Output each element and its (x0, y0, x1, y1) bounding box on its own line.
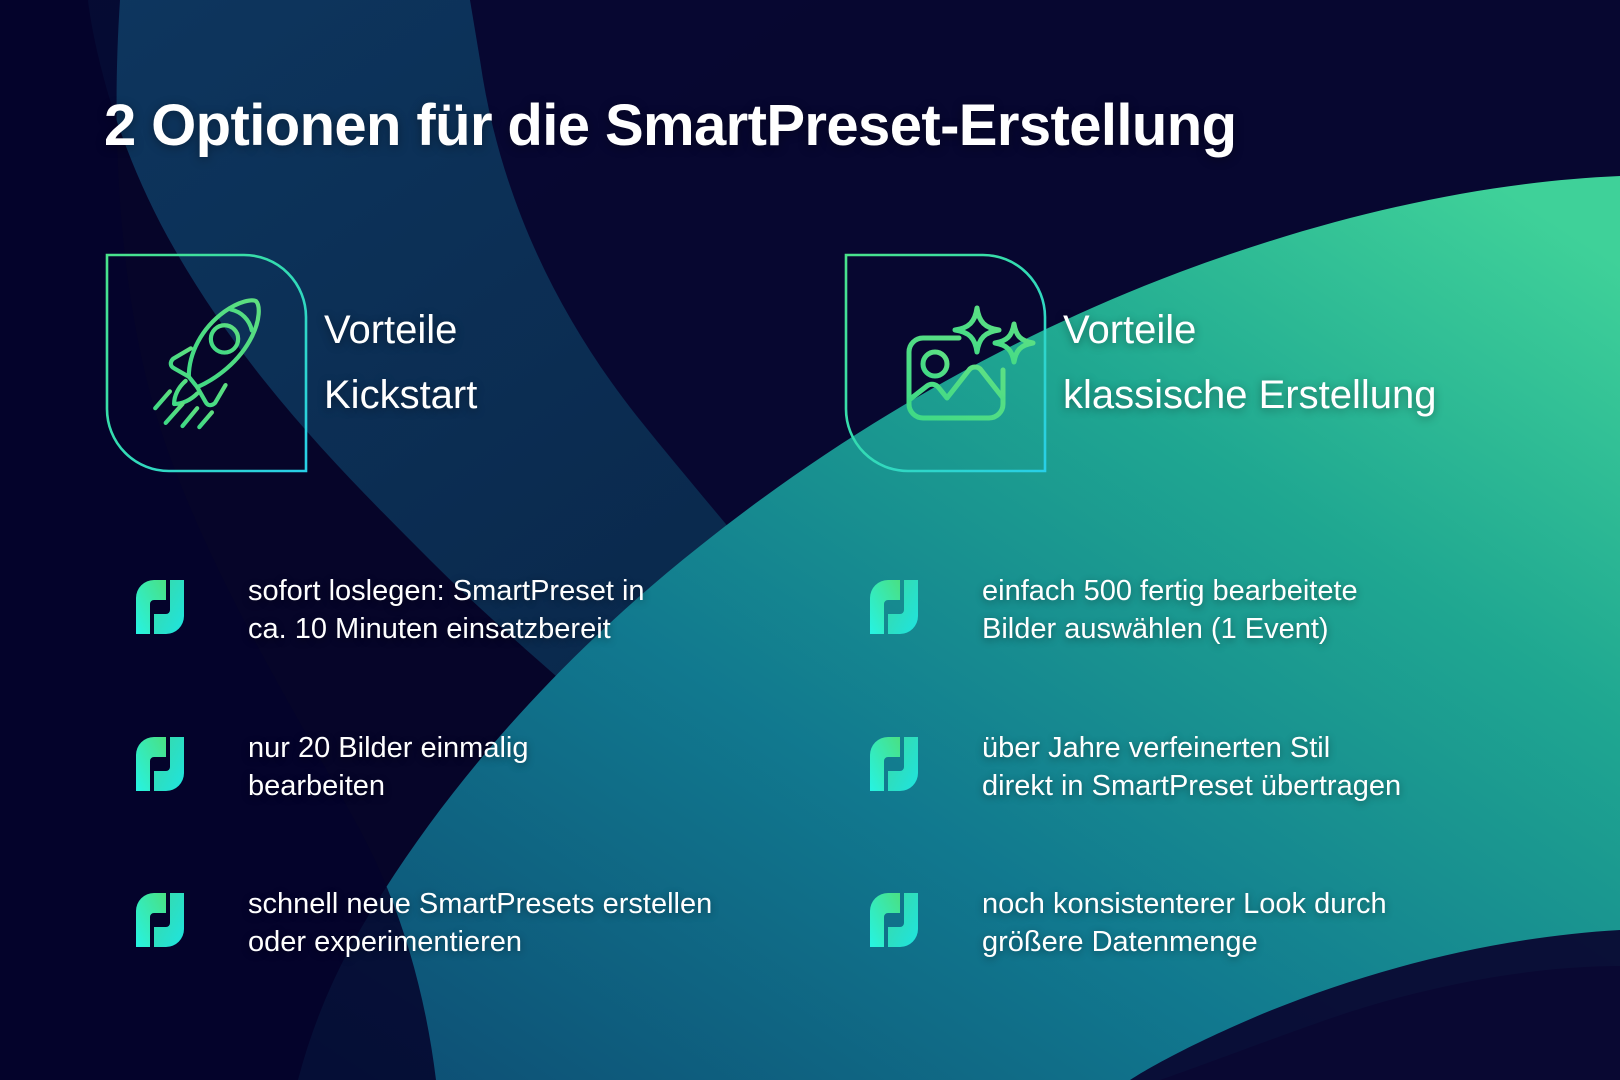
page-title: 2 Optionen für die SmartPreset-Erstellun… (104, 92, 1236, 159)
card-title-kickstart: Vorteile Kickstart (324, 298, 477, 428)
bullet-line1: nur 20 Bilder einmalig (248, 732, 528, 764)
card-head-kickstart: Vorteile Kickstart (104, 252, 477, 474)
list-item-text: schnell neue SmartPresets erstellen oder… (248, 885, 712, 962)
list-item: noch konsistenterer Look durch größere D… (866, 885, 1546, 962)
card-title-line2: Kickstart (324, 363, 477, 428)
slide-canvas: 2 Optionen für die SmartPreset-Erstellun… (0, 0, 1620, 1080)
list-item-text: sofort loslegen: SmartPreset in ca. 10 M… (248, 572, 645, 649)
list-item-text: nur 20 Bilder einmalig bearbeiten (248, 729, 528, 806)
card-title-klassisch: Vorteile klassische Erstellung (1063, 298, 1437, 428)
list-item-text: über Jahre verfeinerten Stil direkt in S… (982, 729, 1401, 806)
card-title-line1: Vorteile (324, 308, 457, 352)
list-item: über Jahre verfeinerten Stil direkt in S… (866, 729, 1546, 806)
bullet-line2: größere Datenmenge (982, 923, 1387, 961)
bullet-list-kickstart: sofort loslegen: SmartPreset in ca. 10 M… (132, 572, 822, 962)
bullet-line1: schnell neue SmartPresets erstellen (248, 888, 712, 920)
brand-logo-icon (132, 733, 188, 795)
bullet-line2: oder experimentieren (248, 923, 712, 961)
bullet-line1: einfach 500 fertig bearbeitete (982, 575, 1358, 607)
bullet-line2: direkt in SmartPreset übertragen (982, 767, 1401, 805)
icon-frame-kickstart (104, 252, 309, 474)
bullet-list-klassisch: einfach 500 fertig bearbeitete Bilder au… (866, 572, 1546, 962)
brand-logo-icon (866, 576, 922, 638)
brand-logo-icon (866, 889, 922, 951)
bullet-line2: ca. 10 Minuten einsatzbereit (248, 610, 645, 648)
list-item: einfach 500 fertig bearbeitete Bilder au… (866, 572, 1546, 649)
list-item: sofort loslegen: SmartPreset in ca. 10 M… (132, 572, 822, 649)
card-title-line1: Vorteile (1063, 308, 1196, 352)
list-item: schnell neue SmartPresets erstellen oder… (132, 885, 822, 962)
rocket-icon (104, 252, 309, 474)
slide-content: 2 Optionen für die SmartPreset-Erstellun… (0, 0, 1620, 1080)
brand-logo-icon (866, 733, 922, 795)
bullet-line2: Bilder auswählen (1 Event) (982, 610, 1358, 648)
list-item-text: einfach 500 fertig bearbeitete Bilder au… (982, 572, 1358, 649)
bullet-line1: über Jahre verfeinerten Stil (982, 732, 1330, 764)
bullet-line1: noch konsistenterer Look durch (982, 888, 1387, 920)
icon-frame-klassisch (843, 252, 1048, 474)
bullet-line2: bearbeiten (248, 767, 528, 805)
list-item-text: noch konsistenterer Look durch größere D… (982, 885, 1387, 962)
card-title-line2: klassische Erstellung (1063, 363, 1437, 428)
brand-logo-icon (132, 889, 188, 951)
bullet-line1: sofort loslegen: SmartPreset in (248, 575, 645, 607)
image-sparkle-icon (843, 252, 1048, 474)
card-head-klassisch: Vorteile klassische Erstellung (843, 252, 1437, 474)
brand-logo-icon (132, 576, 188, 638)
list-item: nur 20 Bilder einmalig bearbeiten (132, 729, 822, 806)
